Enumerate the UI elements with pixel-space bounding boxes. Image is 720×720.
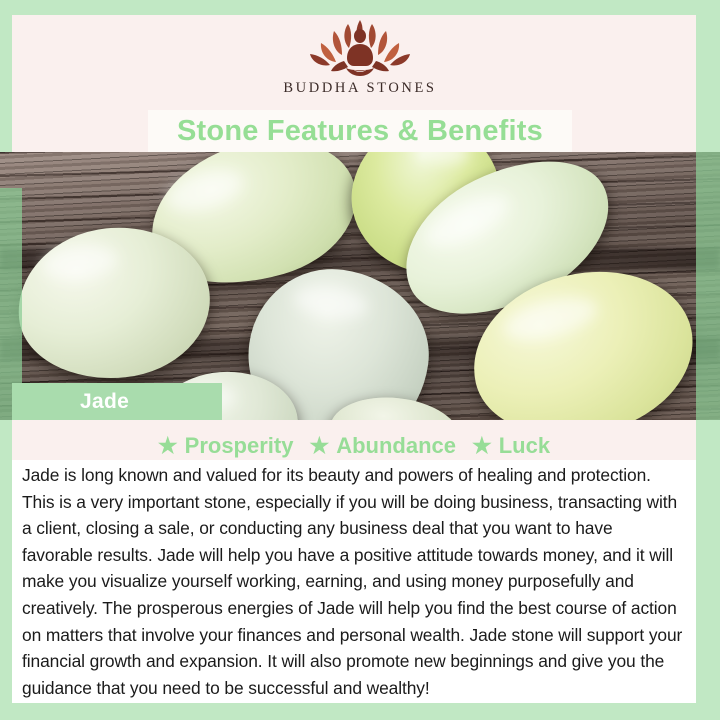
benefits-row: ★ Prosperity ★ Abundance ★ Luck [12, 430, 696, 462]
star-icon: ★ [309, 435, 329, 457]
stone-name-label: Jade [80, 390, 129, 414]
benefit-label: Abundance [336, 433, 456, 459]
jade-tumbled-stones-photo [0, 152, 720, 420]
benefit-item-abundance: ★ Abundance [309, 433, 456, 459]
frame-band-top [0, 0, 720, 15]
benefit-label: Luck [499, 433, 550, 459]
benefit-item-luck: ★ Luck [472, 433, 550, 459]
stone-info-poster: BUDDHA STONES Stone Features & Benefits [0, 0, 720, 720]
description-block: Jade is long known and valued for its be… [12, 460, 696, 703]
benefit-item-prosperity: ★ Prosperity [158, 433, 294, 459]
frame-band-bottom [0, 703, 720, 720]
brand-logo: BUDDHA STONES [0, 16, 720, 111]
photo-caption-banner: Jade [12, 383, 222, 420]
star-icon: ★ [472, 435, 492, 457]
brand-name: BUDDHA STONES [283, 80, 436, 97]
title-banner: Stone Features & Benefits [148, 110, 572, 152]
benefit-label: Prosperity [185, 433, 294, 459]
page-title: Stone Features & Benefits [177, 115, 543, 148]
star-icon: ★ [158, 435, 178, 457]
description-text: Jade is long known and valued for its be… [22, 462, 686, 701]
lotus-meditation-icon [300, 16, 420, 78]
photo-accent-bar-right [696, 152, 720, 420]
